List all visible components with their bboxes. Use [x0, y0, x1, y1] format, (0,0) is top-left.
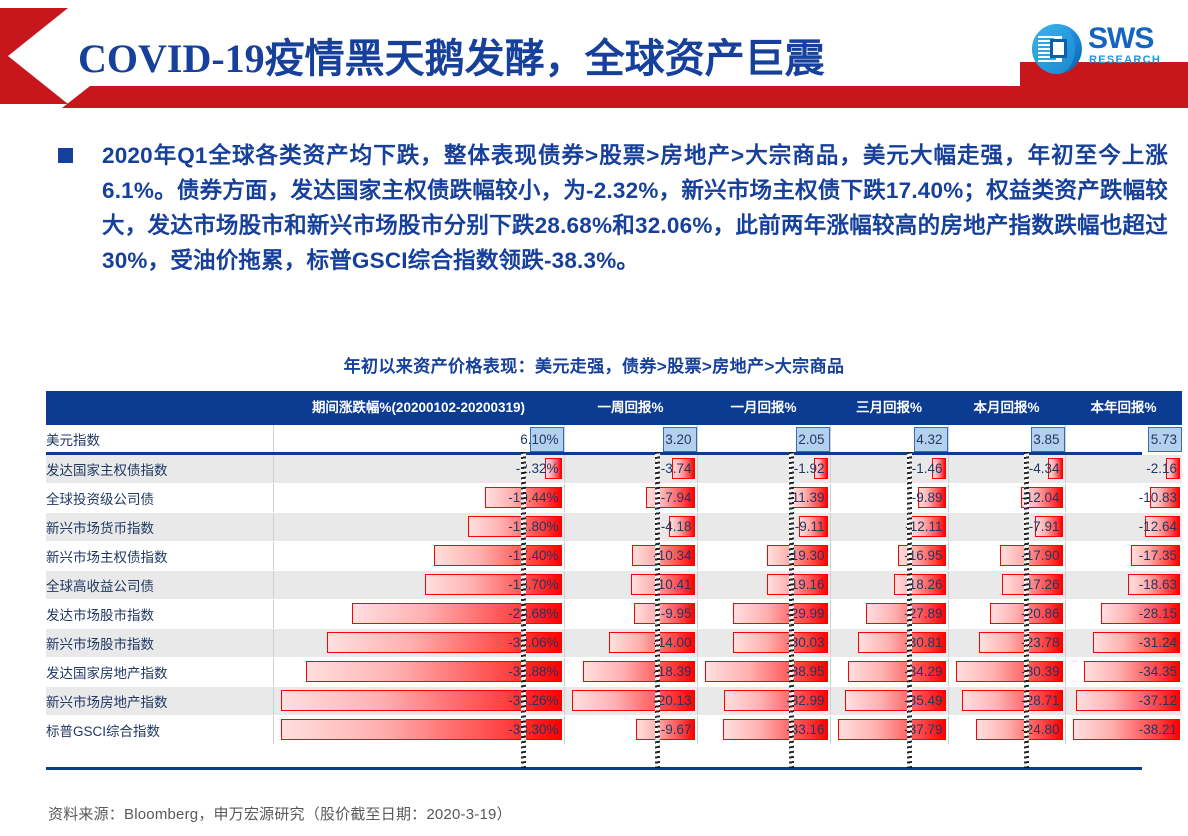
cell-mtd-return: -23.78 [948, 628, 1065, 657]
cell-period-change: -17.40% [273, 541, 564, 570]
table-body: 美元指数6.10%3.202.054.323.855.73发达国家主权债指数-2… [46, 425, 1182, 744]
cell-period-change: -18.70% [273, 570, 564, 599]
cell-value: -30.03 [786, 635, 829, 650]
cell-mtd-return: -12.04 [948, 483, 1065, 512]
asset-name-cell: 发达市场股市指数 [46, 599, 273, 628]
cell-ytd-return: -17.35 [1065, 541, 1182, 570]
cell-value: 2.05 [798, 432, 829, 447]
table-row[interactable]: 新兴市场房地产指数-38.26%-20.13-32.99-35.49-28.71… [46, 686, 1182, 715]
cell-week-return: -18.39 [564, 657, 697, 686]
cell-month-return: 2.05 [697, 425, 830, 454]
cell-ytd-return: 5.73 [1065, 425, 1182, 454]
cell-value: -12.80% [508, 519, 563, 534]
cell-three-month-return: -27.89 [830, 599, 948, 628]
header-banner: COVID-19疫情黑天鹅发酵，全球资产巨震 [0, 0, 1188, 112]
table-row[interactable]: 全球高收益公司债-18.70%-10.41-19.16-18.26-17.26-… [46, 570, 1182, 599]
cell-value: -28.15 [1139, 606, 1182, 621]
cell-three-month-return: -34.29 [830, 657, 948, 686]
cell-month-return: -11.39 [697, 483, 830, 512]
cell-value: -24.80 [1021, 722, 1064, 737]
cell-value: -35.49 [904, 693, 947, 708]
asset-name-cell: 发达国家房地产指数 [46, 657, 273, 686]
col-header-asset [46, 391, 273, 425]
cell-value: -18.63 [1139, 577, 1182, 592]
cell-mtd-return: -4.34 [948, 454, 1065, 483]
cell-value: -10.83 [1139, 490, 1182, 505]
cell-period-change: -38.26% [273, 686, 564, 715]
cell-value: 3.85 [1033, 432, 1064, 447]
cell-month-return: -30.03 [697, 628, 830, 657]
cell-value: -7.91 [1029, 519, 1065, 534]
col-header-week-return: 一周回报% [564, 391, 697, 425]
cell-three-month-return: -1.46 [830, 454, 948, 483]
source-note: 资料来源：Bloomberg，申万宏源研究（股价截至日期：2020-3-19） [48, 803, 512, 824]
sws-logo: SWS RESEARCH [1030, 20, 1178, 78]
cell-value: -12.04 [1021, 490, 1064, 505]
table-row[interactable]: 全球投资级公司债-10.44%-7.94-11.39-9.89-12.04-10… [46, 483, 1182, 512]
cell-ytd-return: -34.35 [1065, 657, 1182, 686]
cell-mtd-return: -30.39 [948, 657, 1065, 686]
cell-three-month-return: -35.49 [830, 686, 948, 715]
cell-value: -4.18 [661, 519, 697, 534]
cell-value: -34.88% [508, 664, 563, 679]
cell-value: -4.34 [1029, 461, 1065, 476]
cell-value: -34.35 [1139, 664, 1182, 679]
page-title: COVID-19疫情黑天鹅发酵，全球资产巨震 [78, 26, 825, 84]
cell-week-return: -10.41 [564, 570, 697, 599]
summary-bullet-text: 2020年Q1全球各类资产均下跌，整体表现债券>股票>房地产>大宗商品，美元大幅… [102, 138, 1168, 278]
table-top-rule [46, 452, 1142, 455]
cell-month-return: -1.92 [697, 454, 830, 483]
cell-value: -9.11 [795, 519, 830, 534]
cell-ytd-return: -31.24 [1065, 628, 1182, 657]
cell-week-return: -10.34 [564, 541, 697, 570]
cell-month-return: -32.99 [697, 686, 830, 715]
table-row[interactable]: 发达国家主权债指数-2.32%-3.74-1.92-1.46-4.34-2.16 [46, 454, 1182, 483]
asset-name-cell: 发达国家主权债指数 [46, 454, 273, 483]
cell-week-return: 3.20 [564, 425, 697, 454]
cell-value: -20.13 [653, 693, 696, 708]
cell-mtd-return: -7.91 [948, 512, 1065, 541]
sws-logo-subtext: RESEARCH [1089, 54, 1161, 66]
cell-value: -31.24 [1139, 635, 1182, 650]
cell-mtd-return: 3.85 [948, 425, 1065, 454]
table-row[interactable]: 新兴市场货币指数-12.80%-4.18-9.11-12.11-7.91-12.… [46, 512, 1182, 541]
cell-week-return: -9.95 [564, 599, 697, 628]
cell-value: 4.32 [916, 432, 947, 447]
cell-period-change: 6.10% [273, 425, 564, 454]
cell-value: -12.64 [1139, 519, 1182, 534]
table-bottom-rule [46, 767, 1142, 770]
cell-value: -14.00 [653, 635, 696, 650]
cell-ytd-return: -38.21 [1065, 715, 1182, 744]
cell-value: -19.30 [786, 548, 829, 563]
table-header-row: 期间涨跌幅%(20200102-20200319) 一周回报% 一月回报% 三月… [46, 391, 1182, 425]
table-row[interactable]: 新兴市场主权债指数-17.40%-10.34-19.30-16.95-17.90… [46, 541, 1182, 570]
cell-value: -23.78 [1021, 635, 1064, 650]
cell-value: -19.16 [786, 577, 829, 592]
cell-mtd-return: -17.90 [948, 541, 1065, 570]
cell-value: -37.12 [1139, 693, 1182, 708]
cell-value: -12.11 [905, 519, 947, 534]
asset-name-cell: 全球高收益公司债 [46, 570, 273, 599]
col-header-period-change: 期间涨跌幅%(20200102-20200319) [273, 391, 564, 425]
cell-value: -1.92 [794, 461, 830, 476]
cell-value: -17.26 [1021, 577, 1064, 592]
cell-three-month-return: -18.26 [830, 570, 948, 599]
cell-value: -17.90 [1021, 548, 1064, 563]
cell-value: -18.26 [904, 577, 947, 592]
cell-month-return: -33.16 [697, 715, 830, 744]
asset-name-cell: 新兴市场货币指数 [46, 512, 273, 541]
cell-three-month-return: -16.95 [830, 541, 948, 570]
asset-performance-table: 期间涨跌幅%(20200102-20200319) 一周回报% 一月回报% 三月… [46, 391, 1142, 745]
table-row[interactable]: 标普GSCI综合指数-38.30%-9.67-33.16-37.79-24.80… [46, 715, 1182, 744]
cell-value: -33.16 [786, 722, 829, 737]
cell-month-return: -19.16 [697, 570, 830, 599]
cell-value: -10.41 [653, 577, 696, 592]
col-header-mtd-return: 本月回报% [948, 391, 1065, 425]
cell-month-return: -19.30 [697, 541, 830, 570]
cell-value: -9.67 [661, 722, 697, 737]
cell-period-change: -38.30% [273, 715, 564, 744]
cell-value: -17.40% [508, 548, 563, 563]
cell-value: -38.30% [508, 722, 563, 737]
cell-value: -1.46 [912, 461, 948, 476]
bullet-square-icon [58, 148, 73, 163]
cell-three-month-return: -30.81 [830, 628, 948, 657]
cell-ytd-return: -37.12 [1065, 686, 1182, 715]
cell-three-month-return: -37.79 [830, 715, 948, 744]
cell-value: 3.20 [665, 432, 696, 447]
cell-mtd-return: -24.80 [948, 715, 1065, 744]
table-row[interactable]: 发达国家房地产指数-34.88%-18.39-38.95-34.29-30.39… [46, 657, 1182, 686]
col-header-month-return: 一月回报% [697, 391, 830, 425]
cell-value: -10.34 [653, 548, 696, 563]
cell-mtd-return: -17.26 [948, 570, 1065, 599]
asset-name-cell: 标普GSCI综合指数 [46, 715, 273, 744]
sws-logo-text: SWS [1088, 24, 1153, 54]
cell-value: -29.99 [786, 606, 829, 621]
banner-red-underline [62, 86, 1188, 108]
col-header-three-month-return: 三月回报% [830, 391, 948, 425]
cell-month-return: -9.11 [697, 512, 830, 541]
cell-value: -38.95 [786, 664, 829, 679]
asset-name-cell: 新兴市场股市指数 [46, 628, 273, 657]
asset-name-cell: 全球投资级公司债 [46, 483, 273, 512]
cell-ytd-return: -28.15 [1065, 599, 1182, 628]
table-row[interactable]: 新兴市场股市指数-32.06%-14.00-30.03-30.81-23.78-… [46, 628, 1182, 657]
cell-mtd-return: -20.86 [948, 599, 1065, 628]
col-header-ytd-return: 本年回报% [1065, 391, 1182, 425]
cell-value: -38.26% [508, 693, 563, 708]
cell-three-month-return: -12.11 [830, 512, 948, 541]
cell-ytd-return: -10.83 [1065, 483, 1182, 512]
cell-value: -9.89 [912, 490, 948, 505]
cell-week-return: -20.13 [564, 686, 697, 715]
cell-value: -28.68% [508, 606, 563, 621]
asset-name-cell: 新兴市场主权债指数 [46, 541, 273, 570]
summary-bullet: 2020年Q1全球各类资产均下跌，整体表现债券>股票>房地产>大宗商品，美元大幅… [58, 138, 1168, 278]
cell-period-change: -12.80% [273, 512, 564, 541]
cell-value: -2.32% [516, 461, 564, 476]
cell-value: -32.06% [508, 635, 563, 650]
cell-value: -28.71 [1021, 693, 1064, 708]
cell-week-return: -4.18 [564, 512, 697, 541]
cell-three-month-return: -9.89 [830, 483, 948, 512]
cell-value: -27.89 [904, 606, 947, 621]
cell-value: -17.35 [1139, 548, 1182, 563]
cell-value: 6.10% [520, 432, 563, 447]
cell-ytd-return: -12.64 [1065, 512, 1182, 541]
cell-period-change: -2.32% [273, 454, 564, 483]
asset-name-cell: 美元指数 [46, 425, 273, 454]
table-row[interactable]: 发达市场股市指数-28.68%-9.95-29.99-27.89-20.86-2… [46, 599, 1182, 628]
cell-value: 5.73 [1151, 432, 1182, 447]
cell-value: -38.21 [1139, 722, 1182, 737]
cell-three-month-return: 4.32 [830, 425, 948, 454]
cell-value: -30.39 [1021, 664, 1064, 679]
cell-value: -7.94 [661, 490, 697, 505]
cell-value: -10.44% [508, 490, 563, 505]
cell-value: -3.74 [661, 461, 697, 476]
cell-month-return: -38.95 [697, 657, 830, 686]
cell-week-return: -3.74 [564, 454, 697, 483]
cell-value: -30.81 [904, 635, 947, 650]
cell-value: -9.95 [661, 606, 697, 621]
cell-value: -18.70% [508, 577, 563, 592]
cell-ytd-return: -18.63 [1065, 570, 1182, 599]
asset-name-cell: 新兴市场房地产指数 [46, 686, 273, 715]
table-caption: 年初以来资产价格表现：美元走强，债券>股票>房地产>大宗商品 [0, 352, 1188, 377]
table-row[interactable]: 美元指数6.10%3.202.054.323.855.73 [46, 425, 1182, 454]
cell-period-change: -28.68% [273, 599, 564, 628]
cell-value: -34.29 [904, 664, 947, 679]
cell-value: -20.86 [1021, 606, 1064, 621]
cell-ytd-return: -2.16 [1065, 454, 1182, 483]
cell-value: -11.39 [787, 490, 829, 505]
cell-period-change: -10.44% [273, 483, 564, 512]
cell-period-change: -32.06% [273, 628, 564, 657]
cell-value: -2.16 [1146, 461, 1182, 476]
cell-value: -32.99 [786, 693, 829, 708]
sws-logo-mark-icon [1030, 22, 1084, 76]
cell-week-return: -9.67 [564, 715, 697, 744]
cell-period-change: -34.88% [273, 657, 564, 686]
cell-month-return: -29.99 [697, 599, 830, 628]
cell-value: -18.39 [653, 664, 696, 679]
cell-mtd-return: -28.71 [948, 686, 1065, 715]
cell-week-return: -7.94 [564, 483, 697, 512]
cell-value: -37.79 [904, 722, 947, 737]
cell-week-return: -14.00 [564, 628, 697, 657]
cell-value: -16.95 [904, 548, 947, 563]
